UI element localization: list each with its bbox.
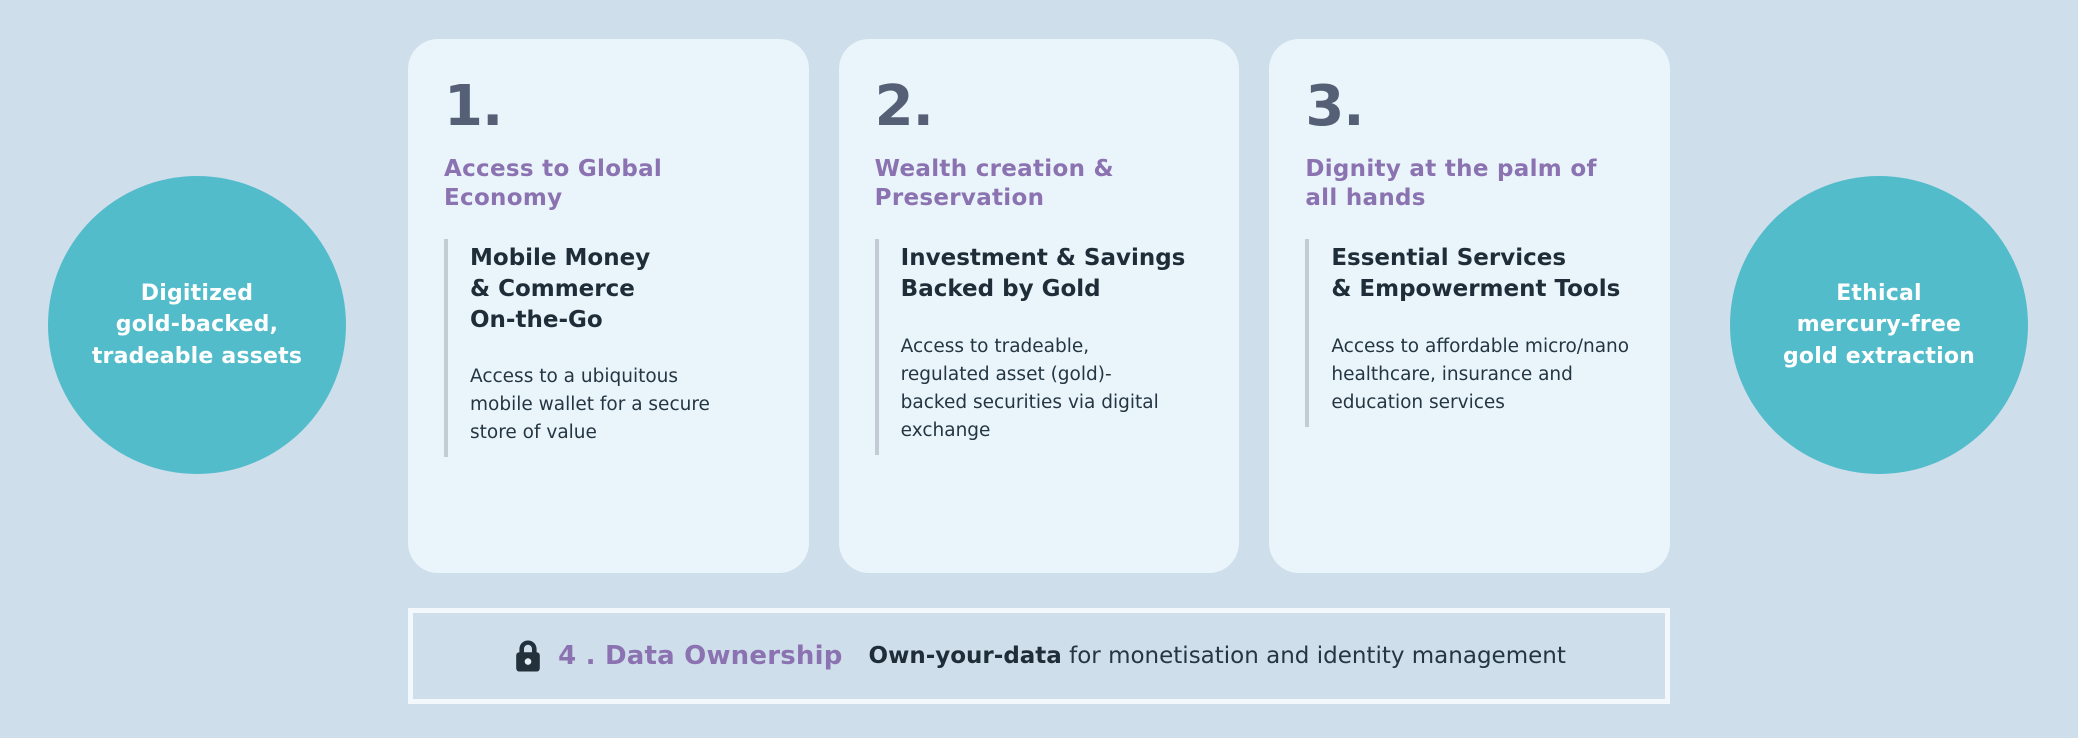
- left-circle-badge: Digitized gold-backed, tradeable assets: [48, 176, 346, 474]
- lock-icon: [512, 639, 544, 673]
- pillar-card-2-number: 2.: [875, 79, 1204, 135]
- data-ownership-banner[interactable]: 4 . Data Ownership Own-your-data for mon…: [408, 608, 1670, 704]
- pillar-cards-row: 1. Access to Global Economy Mobile Money…: [408, 39, 1670, 573]
- data-ownership-rest: for monetisation and identity management: [1062, 643, 1566, 669]
- pillar-card-1[interactable]: 1. Access to Global Economy Mobile Money…: [408, 39, 809, 573]
- pillar-card-1-heading: Mobile Money & Commerce On-the-Go: [470, 243, 773, 335]
- data-ownership-title: 4 . Data Ownership: [558, 641, 842, 671]
- pillar-card-3-number: 3.: [1305, 79, 1634, 135]
- infographic-stage: Digitized gold-backed, tradeable assets …: [0, 0, 2078, 738]
- pillar-card-2-body: Investment & Savings Backed by Gold Acce…: [875, 239, 1204, 455]
- pillar-card-3[interactable]: 3. Dignity at the palm of all hands Esse…: [1269, 39, 1670, 573]
- pillar-card-3-eyebrow: Dignity at the palm of all hands: [1305, 155, 1634, 213]
- pillar-card-1-eyebrow: Access to Global Economy: [444, 155, 773, 213]
- right-circle-badge: Ethical mercury-free gold extraction: [1730, 176, 2028, 474]
- data-ownership-lead: Own-your-data: [869, 643, 1062, 669]
- pillar-card-1-number: 1.: [444, 79, 773, 135]
- right-circle-text: Ethical mercury-free gold extraction: [1783, 278, 1975, 372]
- pillar-card-3-heading: Essential Services & Empowerment Tools: [1331, 243, 1634, 304]
- left-circle-text: Digitized gold-backed, tradeable assets: [92, 278, 302, 372]
- pillar-card-3-description: Access to affordable micro/nano healthca…: [1331, 333, 1634, 417]
- pillar-card-2-description: Access to tradeable, regulated asset (go…: [901, 333, 1204, 445]
- pillar-card-2-eyebrow: Wealth creation & Preservation: [875, 155, 1204, 213]
- data-ownership-text: Own-your-data for monetisation and ident…: [869, 643, 1566, 669]
- pillar-card-2[interactable]: 2. Wealth creation & Preservation Invest…: [839, 39, 1240, 573]
- pillar-card-3-body: Essential Services & Empowerment Tools A…: [1305, 239, 1634, 426]
- pillar-card-1-body: Mobile Money & Commerce On-the-Go Access…: [444, 239, 773, 457]
- pillar-card-2-heading: Investment & Savings Backed by Gold: [901, 243, 1204, 304]
- pillar-card-1-description: Access to a ubiquitous mobile wallet for…: [470, 363, 773, 447]
